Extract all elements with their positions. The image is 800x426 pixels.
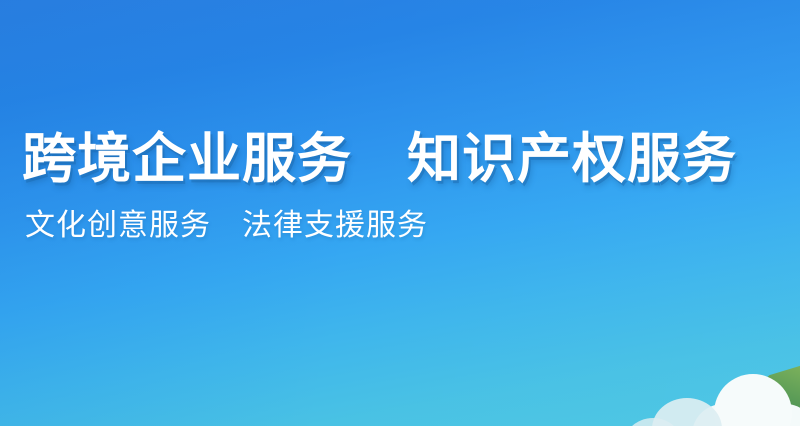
scenery-decoration <box>0 336 800 426</box>
cloud-shape-mid-small <box>624 418 682 426</box>
cloud-shape-right-main <box>714 374 792 426</box>
cloud-shape-right-inner <box>692 404 754 426</box>
service-banner: 跨境企业服务 知识产权服务 文化创意服务 法律支援服务 <box>0 0 800 426</box>
banner-headline: 跨境企业服务 知识产权服务 <box>22 128 737 192</box>
banner-copy: 跨境企业服务 知识产权服务 文化创意服务 法律支援服务 <box>22 128 737 245</box>
cloud-shape-right-outer <box>758 404 800 426</box>
banner-subline: 文化创意服务 法律支援服务 <box>25 206 737 245</box>
hill-shape <box>710 364 800 426</box>
cloud-shape-mid-main <box>652 398 722 426</box>
